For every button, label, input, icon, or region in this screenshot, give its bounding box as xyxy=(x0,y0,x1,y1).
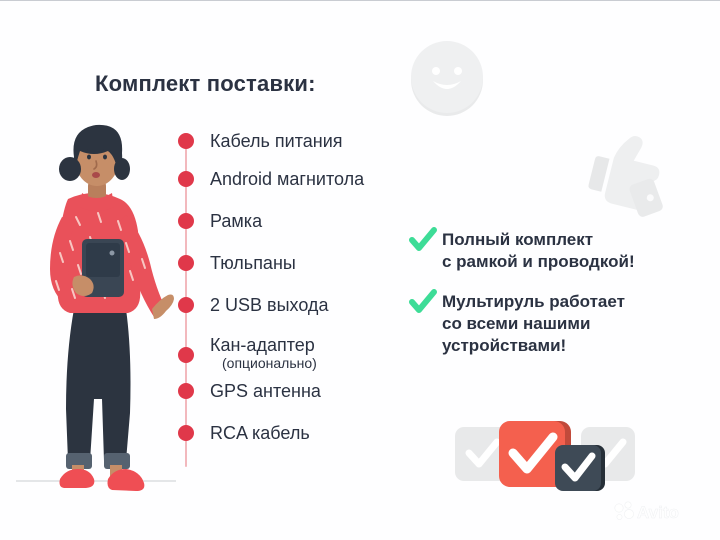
bullet-dot xyxy=(178,425,194,441)
list-item-sublabel: (опционально) xyxy=(222,355,408,372)
highlight-row: Мультируль работает со всеми нашими устр… xyxy=(408,291,708,357)
checkbox-cards-illustration xyxy=(455,409,635,499)
smiley-face-icon xyxy=(408,39,486,117)
green-check-icon xyxy=(408,287,438,317)
bullet-dot xyxy=(178,383,194,399)
thumbs-up-icon xyxy=(568,109,684,225)
bullet-dot xyxy=(178,347,194,363)
list-item: GPS антенна xyxy=(178,381,408,423)
bullet-dot xyxy=(178,297,194,313)
list-item-label: RCA кабель xyxy=(210,423,310,443)
list-item-label: Рамка xyxy=(210,211,262,231)
list-item: Android магнитола xyxy=(178,169,408,211)
green-check-icon xyxy=(408,225,438,255)
bullet-dot xyxy=(178,171,194,187)
list-item-label: GPS антенна xyxy=(210,381,321,401)
list-item: RCA кабель xyxy=(178,423,408,455)
list-item: Рамка xyxy=(178,211,408,253)
list-item: Кабель питания xyxy=(178,131,408,169)
checkbox-cards-svg xyxy=(455,409,635,501)
list-item: Кан-адаптер (опционально) xyxy=(178,335,408,381)
avito-watermark: Avito xyxy=(612,499,704,525)
list-item-label: Android магнитола xyxy=(210,169,364,189)
promo-canvas: Комплект поставки: xyxy=(0,0,720,540)
list-item-label: Кан-адаптер xyxy=(210,335,408,355)
package-contents-list: Кабель питания Android магнитола Рамка Т… xyxy=(178,131,408,455)
list-item: 2 USB выхода xyxy=(178,295,408,335)
highlight-text: Полный комплект с рамкой и проводкой! xyxy=(442,229,635,273)
highlights-block: Полный комплект с рамкой и проводкой! Му… xyxy=(408,229,708,375)
avito-wordmark: Avito xyxy=(637,503,679,522)
list-item: Тюльпаны xyxy=(178,253,408,295)
highlight-row: Полный комплект с рамкой и проводкой! xyxy=(408,229,708,273)
list-item-label: Кабель питания xyxy=(210,131,343,151)
bullet-dot xyxy=(178,213,194,229)
bullet-dot xyxy=(178,255,194,271)
bullet-dot xyxy=(178,133,194,149)
woman-with-tablet-illustration xyxy=(16,113,176,511)
list-item-label: 2 USB выхода xyxy=(210,295,328,315)
list-item-label: Тюльпаны xyxy=(210,253,296,273)
highlight-text: Мультируль работает со всеми нашими устр… xyxy=(442,291,625,357)
page-title: Комплект поставки: xyxy=(95,71,316,97)
